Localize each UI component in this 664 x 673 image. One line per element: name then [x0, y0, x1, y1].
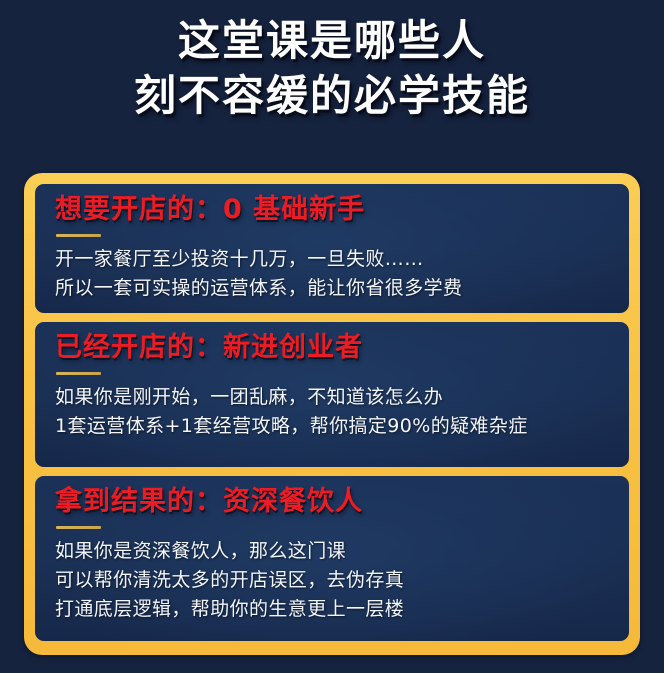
audience-card-veteran: 拿到结果的：资深餐饮人 如果你是资深餐饮人，那么这门课 可以帮你清洗太多的开店误… [35, 476, 629, 641]
audience-card-new-owner: 已经开店的：新进创业者 如果你是刚开始，一团乱麻，不知道该怎么办 1套运营体系+… [35, 322, 629, 467]
card-body-veteran: 如果你是资深餐饮人，那么这门课 可以帮你清洗太多的开店误区，去伪存真 打通底层逻… [55, 537, 609, 624]
card-body-line: 所以一套可实操的运营体系，能让你省很多学费 [55, 274, 609, 303]
card-body-line: 1套运营体系+1套经营攻略，帮你搞定90%的疑难杂症 [55, 412, 609, 441]
card-divider [56, 372, 101, 375]
card-body-line: 可以帮你清洗太多的开店误区，去伪存真 [55, 566, 609, 595]
page-title: 这堂课是哪些人 刻不容缓的必学技能 [0, 16, 664, 121]
audience-cards-frame: 想要开店的：0 基础新手 开一家餐厅至少投资十几万，一旦失败…… 所以一套可实操… [24, 173, 640, 655]
audience-card-beginner: 想要开店的：0 基础新手 开一家餐厅至少投资十几万，一旦失败…… 所以一套可实操… [35, 184, 629, 313]
card-divider [56, 526, 101, 529]
card-heading-new-owner: 已经开店的：新进创业者 [55, 331, 609, 365]
title-line-2: 刻不容缓的必学技能 [0, 71, 664, 121]
card-divider [56, 234, 101, 237]
card-body-line: 打通底层逻辑，帮助你的生意更上一层楼 [55, 595, 609, 624]
card-heading-beginner: 想要开店的：0 基础新手 [55, 193, 609, 227]
promo-poster: 这堂课是哪些人 刻不容缓的必学技能 想要开店的：0 基础新手 开一家餐厅至少投资… [0, 0, 664, 673]
card-heading-veteran: 拿到结果的：资深餐饮人 [55, 485, 609, 519]
card-body-line: 开一家餐厅至少投资十几万，一旦失败…… [55, 245, 609, 274]
title-line-1: 这堂课是哪些人 [0, 16, 664, 66]
card-body-line: 如果你是刚开始，一团乱麻，不知道该怎么办 [55, 383, 609, 412]
card-body-new-owner: 如果你是刚开始，一团乱麻，不知道该怎么办 1套运营体系+1套经营攻略，帮你搞定9… [55, 383, 609, 441]
card-body-line: 如果你是资深餐饮人，那么这门课 [55, 537, 609, 566]
card-body-beginner: 开一家餐厅至少投资十几万，一旦失败…… 所以一套可实操的运营体系，能让你省很多学… [55, 245, 609, 303]
